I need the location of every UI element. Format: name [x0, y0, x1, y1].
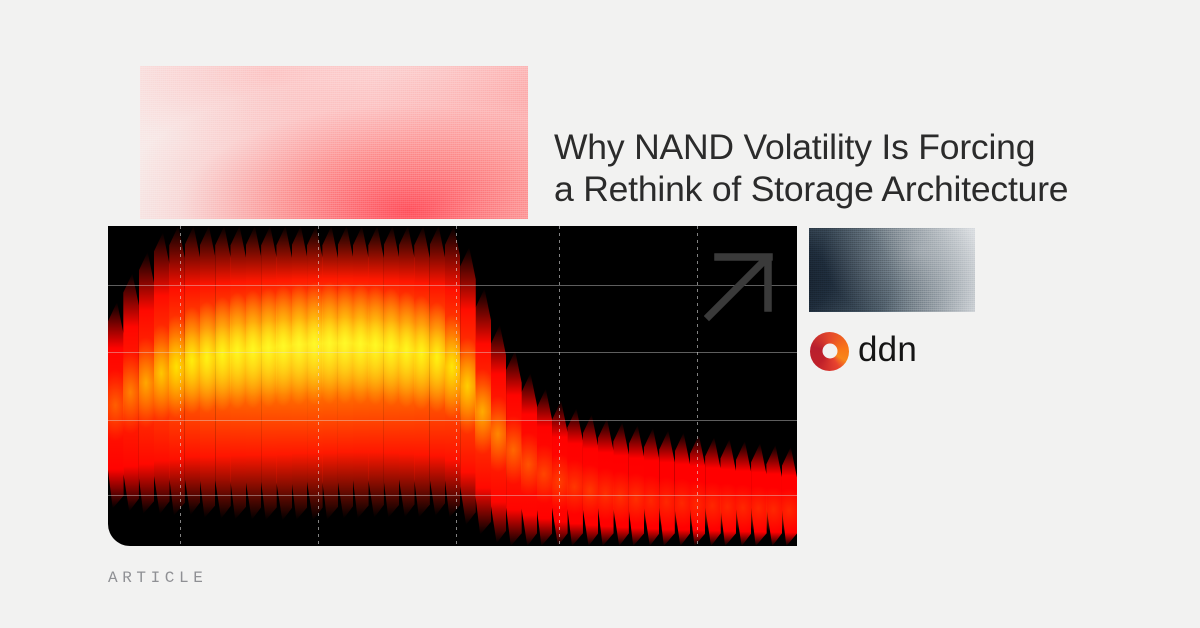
- spectrum-bar: [108, 226, 124, 546]
- ddn-wordmark: ddn: [858, 332, 917, 370]
- spectrum-bar-core: [368, 226, 384, 546]
- spectrum-bar-core: [675, 226, 691, 546]
- navy-fade-gradient-block: [809, 228, 975, 312]
- grain-texture-overlay: [140, 66, 528, 219]
- spectrum-bar-core: [644, 226, 660, 546]
- spectrum-bar: [292, 226, 308, 546]
- spectrum-bar-core: [108, 226, 124, 546]
- spectrum-bar-core: [276, 226, 292, 546]
- spectrum-bars: [108, 226, 797, 546]
- grain-texture-overlay: [809, 228, 975, 312]
- spectrum-bar-core: [307, 226, 323, 546]
- spectrum-bar-core: [230, 226, 246, 546]
- spectrum-bar-core: [552, 226, 568, 546]
- spectrum-bar-core: [766, 226, 782, 546]
- spectrum-bar: [460, 226, 476, 546]
- article-social-card: Why NAND Volatility Is Forcing a Rethink…: [0, 0, 1200, 628]
- spectrum-bar: [123, 226, 139, 546]
- spectrum-bar-core: [169, 226, 185, 546]
- spectrum-bar: [215, 226, 231, 546]
- spectrum-bar: [185, 226, 201, 546]
- spectrum-bar: [537, 226, 553, 546]
- spectrum-bar: [384, 226, 400, 546]
- spectrum-bar: [399, 226, 415, 546]
- spectrum-bar-core: [475, 226, 491, 546]
- spectrum-bar-core: [430, 226, 446, 546]
- spectrum-bar-core: [445, 226, 461, 546]
- spectrum-bar: [154, 226, 170, 546]
- spectrum-bar: [430, 226, 446, 546]
- spectrum-bar: [491, 226, 507, 546]
- spectrum-bar-core: [583, 226, 599, 546]
- spectrum-bar-core: [123, 226, 139, 546]
- spectrum-bar: [322, 226, 338, 546]
- spectrum-bar: [675, 226, 691, 546]
- spectrum-bar-core: [261, 226, 277, 546]
- spectrum-bar: [261, 226, 277, 546]
- spectrum-bar: [690, 226, 706, 546]
- spectrum-bar: [445, 226, 461, 546]
- spectrum-bar: [368, 226, 384, 546]
- spectrum-bar-core: [384, 226, 400, 546]
- spectrum-bar-core: [200, 226, 216, 546]
- spectrum-bar: [353, 226, 369, 546]
- spectrum-bar-core: [690, 226, 706, 546]
- spectrum-bar-core: [338, 226, 354, 546]
- spectrum-bar-core: [139, 226, 155, 546]
- spectrum-bar-core: [292, 226, 308, 546]
- spectrum-bar: [705, 226, 721, 546]
- spectrum-bar: [246, 226, 262, 546]
- spectrum-bar-core: [567, 226, 583, 546]
- spectrum-bar: [782, 226, 797, 546]
- spectrum-bar: [338, 226, 354, 546]
- spectrum-bar: [751, 226, 767, 546]
- spectrum-bar-core: [751, 226, 767, 546]
- spectrum-bar-core: [154, 226, 170, 546]
- spectrum-bar-core: [322, 226, 338, 546]
- category-label: ARTICLE: [108, 569, 207, 587]
- spectrum-bar: [276, 226, 292, 546]
- spectrum-bar: [583, 226, 599, 546]
- spectrum-bar-core: [782, 226, 797, 546]
- spectrum-bar: [414, 226, 430, 546]
- spectrum-bar-core: [521, 226, 537, 546]
- spectrum-bar-core: [460, 226, 476, 546]
- spectrum-bar-core: [537, 226, 553, 546]
- spectrum-bar: [139, 226, 155, 546]
- spectrum-bar-core: [353, 226, 369, 546]
- spectrum-bar: [475, 226, 491, 546]
- ddn-logo[interactable]: ddn: [810, 331, 917, 371]
- pink-mesh-gradient-block: [140, 66, 528, 219]
- spectrum-bar: [230, 226, 246, 546]
- spectrum-bar: [307, 226, 323, 546]
- spectrum-bar: [766, 226, 782, 546]
- spectrum-bar-core: [736, 226, 752, 546]
- page-title: Why NAND Volatility Is Forcing a Rethink…: [554, 126, 1154, 210]
- spectrum-bar: [552, 226, 568, 546]
- spectrum-chart-panel: [108, 226, 797, 546]
- spectrum-bar-core: [246, 226, 262, 546]
- spectrum-bar-core: [613, 226, 629, 546]
- spectrum-bar: [506, 226, 522, 546]
- spectrum-bar: [567, 226, 583, 546]
- spectrum-bar: [613, 226, 629, 546]
- spectrum-bar-core: [705, 226, 721, 546]
- spectrum-bar: [169, 226, 185, 546]
- spectrum-bar-core: [215, 226, 231, 546]
- spectrum-bar-core: [185, 226, 201, 546]
- spectrum-bar-core: [720, 226, 736, 546]
- spectrum-bar: [659, 226, 675, 546]
- spectrum-bar: [736, 226, 752, 546]
- spectrum-bar-core: [506, 226, 522, 546]
- spectrum-bar-core: [414, 226, 430, 546]
- spectrum-bar: [629, 226, 645, 546]
- spectrum-bar: [200, 226, 216, 546]
- spectrum-bar-core: [399, 226, 415, 546]
- spectrum-bar: [644, 226, 660, 546]
- spectrum-bar-core: [598, 226, 614, 546]
- ddn-ring-mark-icon: [810, 332, 849, 371]
- spectrum-bar: [598, 226, 614, 546]
- spectrum-bar-core: [659, 226, 675, 546]
- spectrum-bar-core: [629, 226, 645, 546]
- spectrum-bar: [720, 226, 736, 546]
- spectrum-bar: [521, 226, 537, 546]
- spectrum-bar-core: [491, 226, 507, 546]
